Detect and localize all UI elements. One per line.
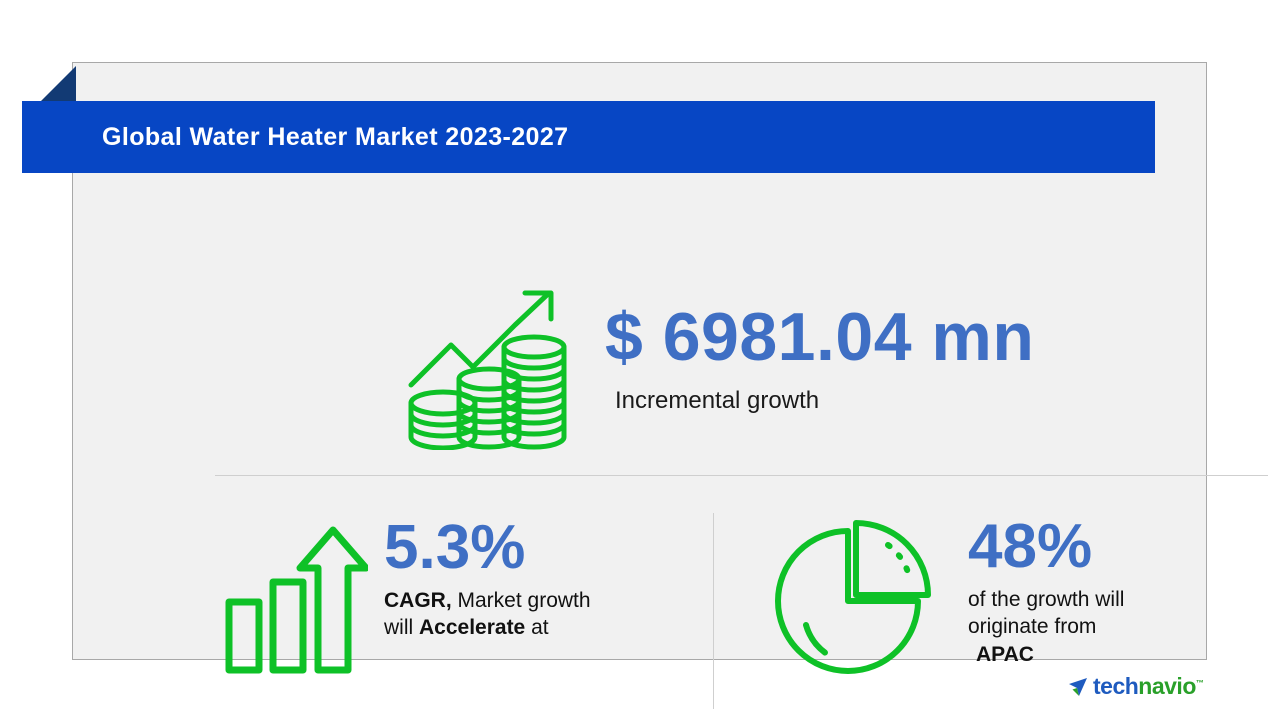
incremental-growth-value: $ 6981.04 mn <box>605 303 1034 371</box>
incremental-growth-caption: Incremental growth <box>615 387 1034 415</box>
cagr-description-line-1: CAGR, Market growth <box>384 587 591 615</box>
stat-incremental-growth: $ 6981.04 mn Incremental growth <box>403 275 1163 460</box>
bar-chart-up-arrow-icon <box>223 518 368 676</box>
folded-corner-decoration <box>40 66 76 102</box>
incremental-growth-text: $ 6981.04 mn Incremental growth <box>605 275 1034 415</box>
vertical-divider <box>713 513 714 709</box>
title-banner: Global Water Heater Market 2023-2027 <box>22 101 1155 173</box>
logo-text-secondary: navio <box>1138 673 1196 699</box>
stat-cagr: 5.3% CAGR, Market growth will Accelerate… <box>223 518 693 676</box>
stat-region-share: 48% of the growth will originate from AP… <box>770 515 1250 687</box>
logo-trademark: ™ <box>1196 678 1204 687</box>
region-share-value: 48% <box>968 517 1124 578</box>
cagr-description: CAGR, Market growth will Accelerate at <box>384 587 591 642</box>
technavio-logo: technavio™ <box>1068 675 1203 698</box>
pie-chart-icon <box>770 515 940 687</box>
cagr-label-rest: Market growth <box>452 589 591 612</box>
cagr-line2-bold: Accelerate <box>419 616 525 639</box>
region-share-line-2: originate from <box>968 613 1124 641</box>
cagr-value: 5.3% <box>384 518 591 579</box>
cagr-line2-pre: will <box>384 616 419 639</box>
technavio-arrow-icon <box>1068 676 1090 698</box>
cagr-description-line-2: will Accelerate at <box>384 614 591 642</box>
region-name: APAC <box>976 641 1124 669</box>
page-title: Global Water Heater Market 2023-2027 <box>102 123 568 152</box>
horizontal-divider <box>215 475 1268 476</box>
region-share-text: 48% of the growth will originate from AP… <box>968 515 1124 669</box>
logo-text-primary: tech <box>1093 673 1138 699</box>
region-share-line-1: of the growth will <box>968 586 1124 614</box>
cagr-text: 5.3% CAGR, Market growth will Accelerate… <box>384 518 591 642</box>
region-share-description: of the growth will originate from APAC <box>968 586 1124 669</box>
cagr-line2-post: at <box>525 616 548 639</box>
cagr-label-bold: CAGR, <box>384 589 452 612</box>
coin-stacks-growth-icon <box>403 275 573 450</box>
